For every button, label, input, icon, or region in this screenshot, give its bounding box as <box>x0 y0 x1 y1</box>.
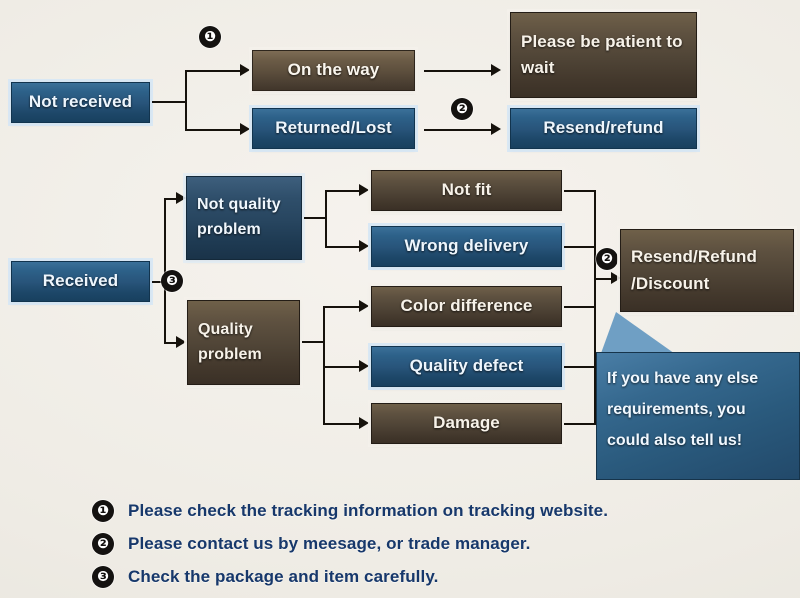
node-color-difference-label: Color difference <box>401 293 533 319</box>
connector-merge-damage <box>564 423 596 425</box>
node-received[interactable]: Received <box>11 261 150 302</box>
node-not-fit-label: Not fit <box>442 177 492 203</box>
connector-nq-to-wrong-delivery <box>325 246 360 248</box>
connector-not-received-stem <box>152 101 186 103</box>
arrowhead-not-fit <box>359 184 369 196</box>
node-damage[interactable]: Damage <box>371 403 562 444</box>
node-resend-refund[interactable]: Resend/refund <box>510 108 697 149</box>
node-resend-refund-label: Resend/refund <box>543 115 663 141</box>
node-wrong-delivery[interactable]: Wrong delivery <box>371 226 562 267</box>
marker-one-top-label: ❶ <box>204 30 216 44</box>
speech-bubble-tail <box>600 312 678 356</box>
node-not-quality-problem[interactable]: Not quality problem <box>186 176 302 260</box>
arrowhead-resend-refund <box>491 123 501 135</box>
speech-bubble-line-2: requirements, you <box>607 394 789 425</box>
marker-two-bottom: ❷ <box>596 248 618 270</box>
speech-bubble-line-3: could also tell us! <box>607 425 789 456</box>
marker-one-top: ❶ <box>199 26 221 48</box>
marker-two-bottom-label: ❷ <box>601 252 613 266</box>
connector-nq-split <box>325 190 327 247</box>
arrowhead-damage <box>359 417 369 429</box>
connector-q-stem <box>302 341 324 343</box>
connector-on-the-way-to-patient <box>424 70 492 72</box>
legend-text-3: Check the package and item carefully. <box>128 567 438 587</box>
node-quality-problem[interactable]: Quality problem <box>187 300 300 385</box>
arrowhead-be-patient <box>491 64 501 76</box>
node-be-patient[interactable]: Please be patient to wait <box>510 12 697 98</box>
node-returned-lost[interactable]: Returned/Lost <box>252 108 415 149</box>
legend: ❶ Please check the tracking information … <box>0 494 800 598</box>
legend-text-2: Please contact us by meesage, or trade m… <box>128 534 531 554</box>
node-color-difference[interactable]: Color difference <box>371 286 562 327</box>
legend-marker-two-icon: ❷ <box>92 533 114 555</box>
connector-q-to-color <box>323 306 360 308</box>
marker-two-top-label: ❷ <box>456 102 468 116</box>
node-resend-refund-discount[interactable]: Resend/Refund /Discount <box>620 229 794 312</box>
arrowhead-quality-defect <box>359 360 369 372</box>
arrowhead-returned-lost <box>240 123 250 135</box>
speech-bubble: If you have any else requirements, you c… <box>596 352 800 480</box>
node-resend-refund-discount-label: Resend/Refund /Discount <box>631 244 783 297</box>
node-returned-lost-label: Returned/Lost <box>275 115 392 141</box>
connector-nq-to-not-fit <box>325 190 360 192</box>
connector-q-split <box>323 306 325 423</box>
flowchart-canvas: Not received ❶ On the way Returned/Lost … <box>0 0 800 598</box>
arrowhead-not-quality <box>176 192 186 204</box>
node-on-the-way[interactable]: On the way <box>252 50 415 91</box>
node-not-fit[interactable]: Not fit <box>371 170 562 211</box>
connector-merge-defect <box>564 366 596 368</box>
node-quality-defect-label: Quality defect <box>410 353 524 379</box>
legend-marker-one-icon: ❶ <box>92 500 114 522</box>
connector-q-to-defect <box>323 366 360 368</box>
legend-item-1: ❶ Please check the tracking information … <box>92 500 608 522</box>
arrowhead-on-the-way <box>240 64 250 76</box>
connector-nq-stem <box>304 217 326 219</box>
connector-returned-to-resend <box>424 129 492 131</box>
node-not-quality-problem-label: Not quality problem <box>197 193 291 243</box>
speech-bubble-line-1: If you have any else <box>607 363 789 394</box>
node-received-label: Received <box>43 268 118 294</box>
marker-three-flow: ❸ <box>161 270 183 292</box>
legend-text-1: Please check the tracking information on… <box>128 501 608 521</box>
node-not-received[interactable]: Not received <box>11 82 150 123</box>
arrowhead-color-difference <box>359 300 369 312</box>
legend-marker-three-icon: ❸ <box>92 566 114 588</box>
marker-two-top: ❷ <box>451 98 473 120</box>
connector-merge-not-fit <box>564 190 596 192</box>
node-damage-label: Damage <box>433 410 500 436</box>
connector-merge-color <box>564 306 596 308</box>
connector-not-received-split <box>185 70 187 130</box>
arrowhead-quality <box>176 336 186 348</box>
marker-three-flow-label: ❸ <box>166 274 178 288</box>
arrowhead-wrong-delivery <box>359 240 369 252</box>
connector-to-returned-lost <box>185 129 241 131</box>
connector-merge-wrong-delivery <box>564 246 596 248</box>
legend-item-2: ❷ Please contact us by meesage, or trade… <box>92 533 531 555</box>
legend-item-3: ❸ Check the package and item carefully. <box>92 566 438 588</box>
node-not-received-label: Not received <box>29 89 132 115</box>
node-quality-problem-label: Quality problem <box>198 318 289 368</box>
node-on-the-way-label: On the way <box>288 57 380 83</box>
node-be-patient-label: Please be patient to wait <box>521 29 686 82</box>
node-wrong-delivery-label: Wrong delivery <box>405 233 529 259</box>
connector-to-on-the-way <box>185 70 241 72</box>
connector-q-to-damage <box>323 423 360 425</box>
node-quality-defect[interactable]: Quality defect <box>371 346 562 387</box>
